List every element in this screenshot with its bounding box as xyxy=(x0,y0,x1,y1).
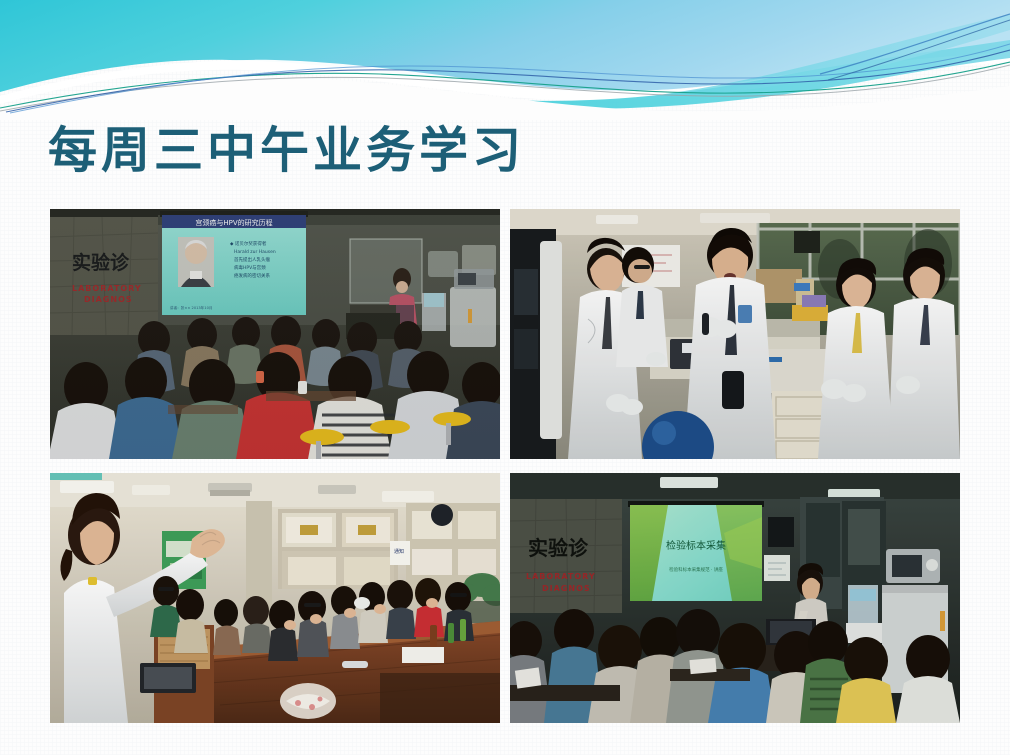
photo-grid: 实验诊 LABORATORY DIAGNOS 宫颈癌与HPV的研究历程 xyxy=(50,209,960,733)
photo-speaker-presenting[interactable]: 通知 xyxy=(50,473,500,723)
slide-title: 每周三中午业务学习 xyxy=(48,122,525,180)
photo-specimen-lecture[interactable]: 实验诊 LABORATORY DIAGNOS 检验标本采集 检验科标本采集规范 … xyxy=(510,473,960,723)
photo-lecture-hpv[interactable]: 实验诊 LABORATORY DIAGNOS 宫颈癌与HPV的研究历程 xyxy=(50,209,500,459)
photo-lab-discussion[interactable]: 实验室内白大衣工作人员现场讨论交流 xyxy=(510,209,960,459)
presentation-slide: 每周三中午业务学习 xyxy=(0,0,1010,755)
header-wave-decoration xyxy=(0,0,1010,120)
